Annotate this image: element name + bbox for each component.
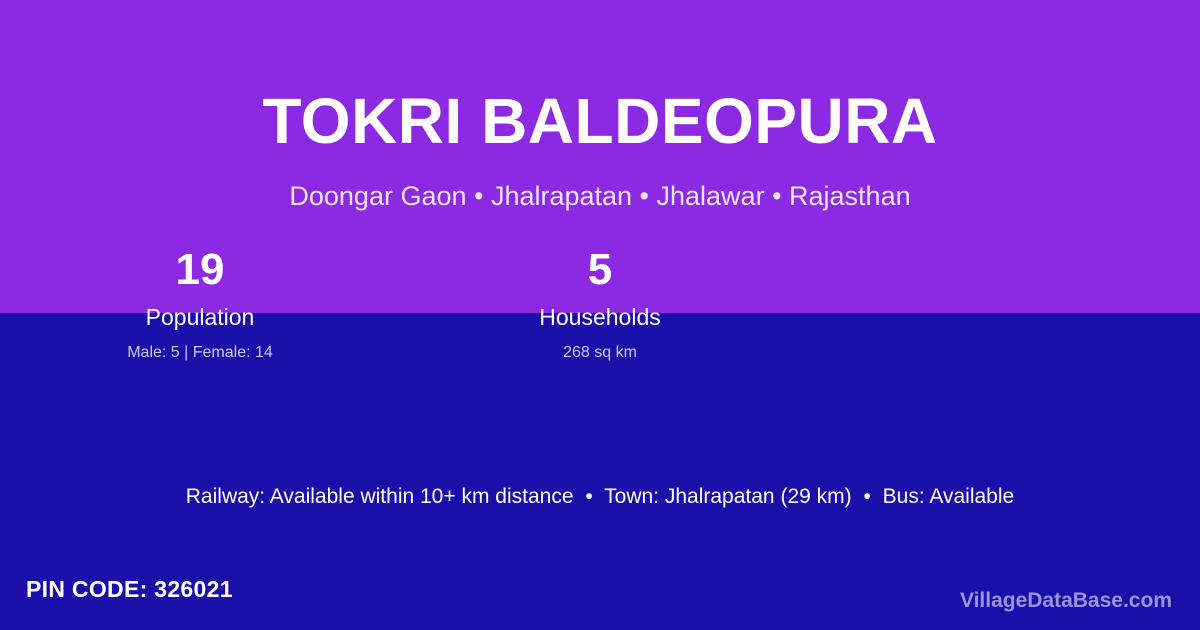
population-value: 19 — [0, 248, 400, 292]
town-info: Town: Jhalrapatan (29 km) — [604, 485, 851, 508]
stat-population: 19 Population Male: 5 | Female: 14 — [0, 248, 400, 362]
services-line: Railway: Available within 10+ km distanc… — [0, 485, 1200, 509]
pin-code: PIN CODE: 326021 — [26, 576, 233, 603]
page-title: TOKRI BALDEOPURA — [0, 86, 1200, 156]
population-breakdown: Male: 5 | Female: 14 — [0, 344, 400, 362]
households-value: 5 — [400, 248, 800, 292]
population-label: Population — [0, 304, 400, 331]
households-label: Households — [400, 304, 800, 331]
railway-info: Railway: Available within 10+ km distanc… — [186, 485, 574, 508]
bus-info: Bus: Available — [883, 485, 1015, 508]
separator-dot-icon: • — [579, 485, 598, 509]
area-value: 268 sq km — [400, 344, 800, 362]
stats-row: 19 Population Male: 5 | Female: 14 5 Hou… — [0, 248, 1200, 362]
separator-dot-icon: • — [857, 485, 876, 509]
site-brand: VillageDataBase.com — [960, 589, 1172, 613]
stat-households: 5 Households 268 sq km — [400, 248, 800, 362]
village-info-card: TOKRI BALDEOPURA Doongar Gaon • Jhalrapa… — [0, 0, 1200, 630]
breadcrumb: Doongar Gaon • Jhalrapatan • Jhalawar • … — [0, 181, 1200, 212]
